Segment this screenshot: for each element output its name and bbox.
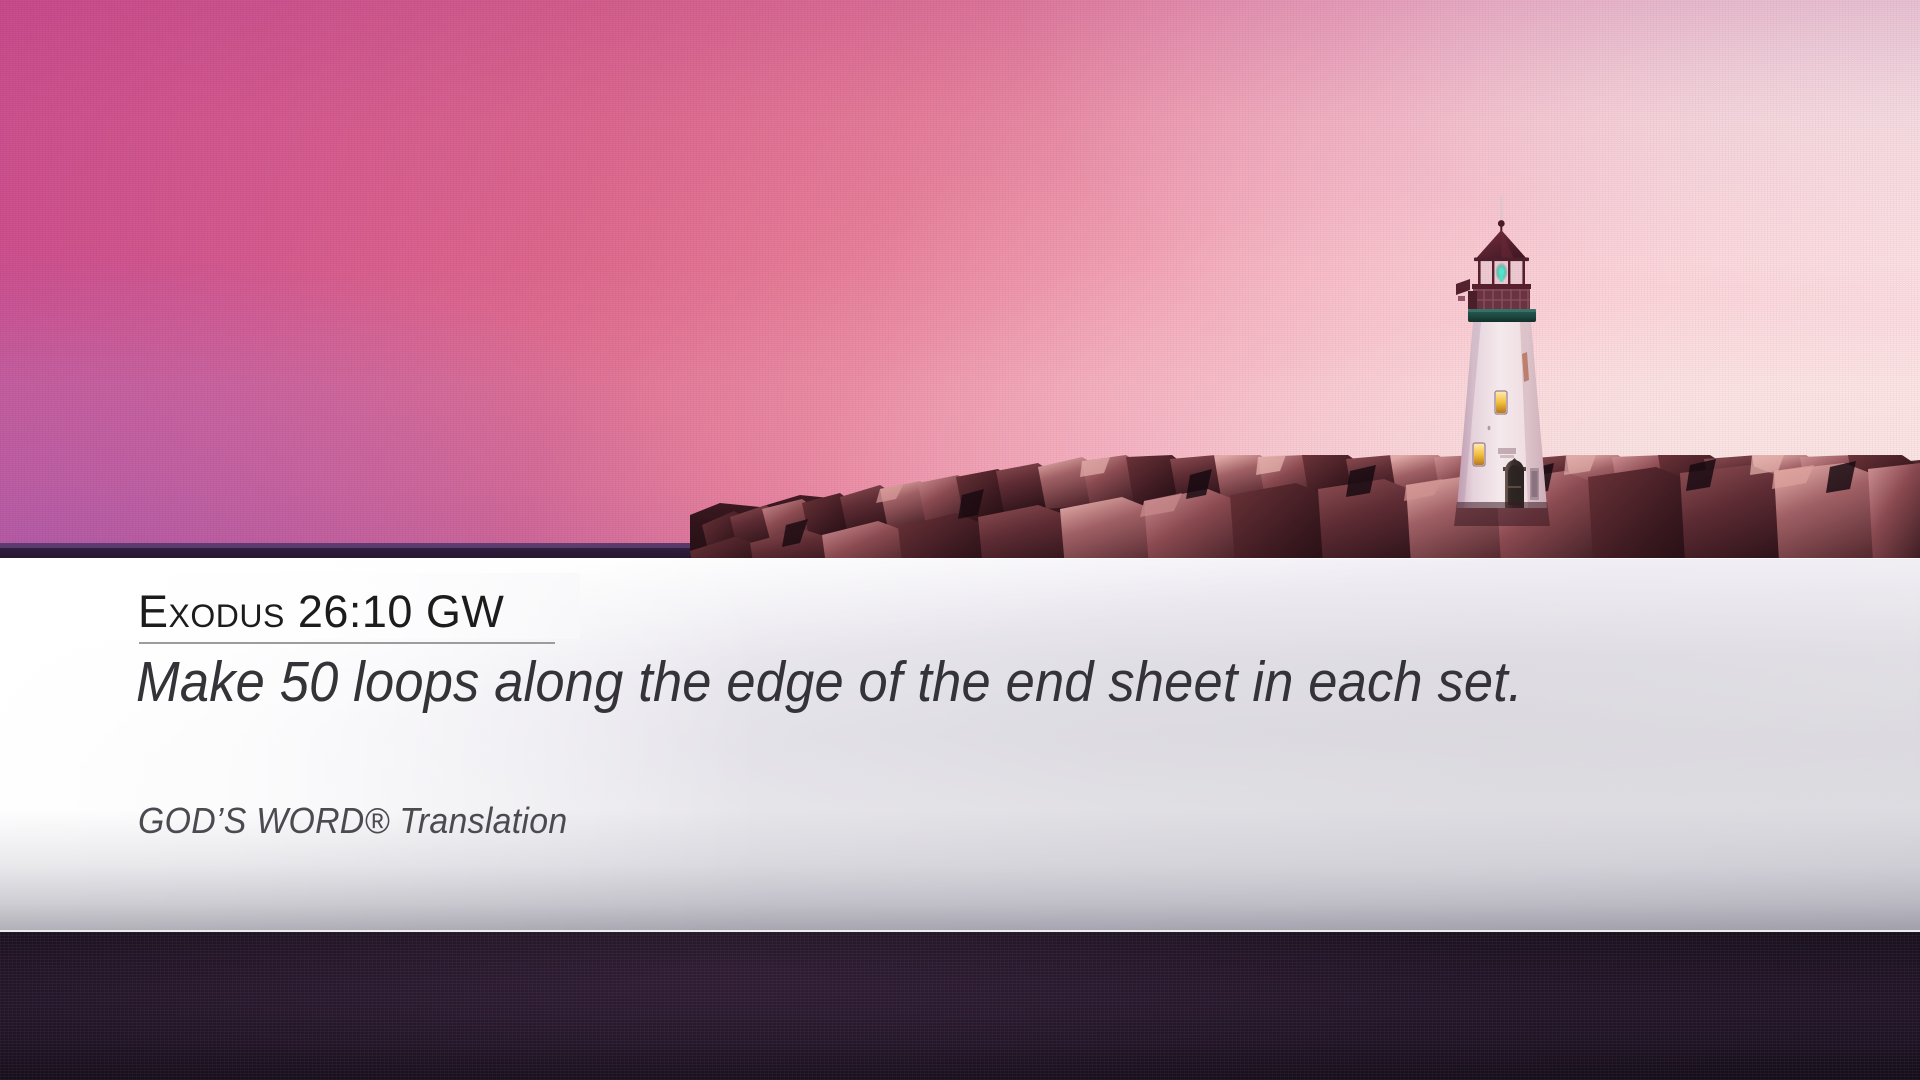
translation-attribution: GOD’S WORD® Translation: [138, 798, 567, 844]
citation-underline: [139, 642, 555, 644]
bottom-band-grain: [0, 930, 1920, 1080]
verse-body-text: Make 50 loops along the edge of the end …: [136, 646, 1682, 718]
upper-window: [1496, 392, 1506, 413]
citation-wrapper: Exodus 26:10 GW: [138, 584, 504, 644]
foghorn: [1456, 279, 1470, 295]
lighthouse: [1432, 196, 1572, 526]
verse-citation: Exodus 26:10 GW: [138, 584, 504, 644]
bottom-dark-band: [0, 930, 1920, 1080]
verse-text-block: Exodus 26:10 GW Make 50 loops along the …: [0, 558, 1920, 930]
lower-window: [1474, 444, 1484, 465]
antenna-mast: [1500, 196, 1502, 222]
citation-label: Exodus 26:10 GW: [138, 586, 504, 637]
verse-image-canvas: Exodus 26:10 GW Make 50 loops along the …: [0, 0, 1920, 1080]
